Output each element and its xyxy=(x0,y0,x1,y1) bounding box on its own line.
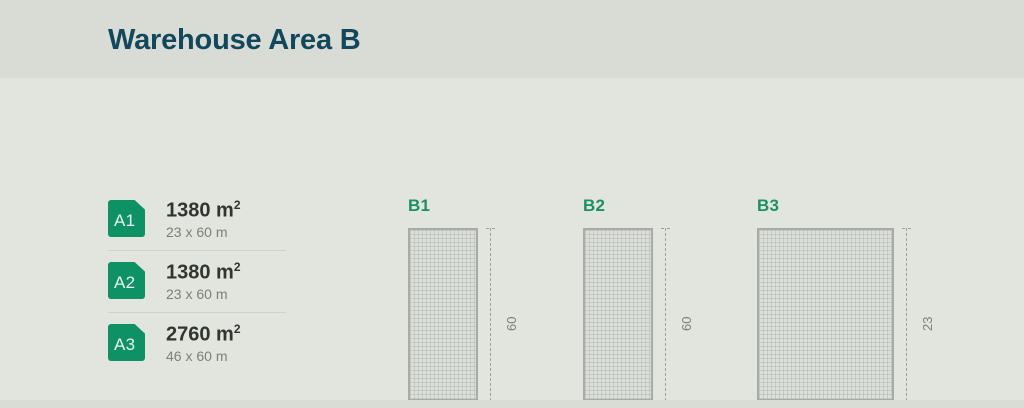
area-legend: A1 1380 m2 23 x 60 m A2 1380 m2 23 x 60 … xyxy=(108,198,288,366)
list-item[interactable]: A1 1380 m2 23 x 60 m xyxy=(108,198,288,242)
depth-dimension-label: 60 xyxy=(504,317,519,331)
area-exponent: 2 xyxy=(234,322,241,336)
depth-dimension-line xyxy=(906,228,907,401)
area-badge-a3: A3 xyxy=(108,324,145,361)
list-item[interactable]: A3 2760 m2 46 x 60 m xyxy=(108,322,288,366)
header-band: Warehouse Area B xyxy=(0,0,1024,78)
unit-label: B3 xyxy=(757,196,779,216)
divider xyxy=(108,250,286,251)
area-exponent: 2 xyxy=(234,198,241,212)
unit-rectangle[interactable] xyxy=(757,228,894,401)
area-dimensions: 23 x 60 m xyxy=(166,224,227,240)
unit-rectangle[interactable] xyxy=(408,228,478,401)
area-value: 1380 m2 xyxy=(166,260,241,285)
content-area: A1 1380 m2 23 x 60 m A2 1380 m2 23 x 60 … xyxy=(0,78,1024,400)
depth-dimension-label: 60 xyxy=(679,317,694,331)
depth-dimension-cap-top xyxy=(902,228,911,229)
area-value: 2760 m2 xyxy=(166,322,241,347)
area-badge-a2: A2 xyxy=(108,262,145,299)
divider xyxy=(108,312,286,313)
area-badge-label: A1 xyxy=(114,211,135,231)
area-number: 1380 m xyxy=(166,200,234,222)
list-item[interactable]: A2 1380 m2 23 x 60 m xyxy=(108,260,288,304)
depth-dimension-cap-top xyxy=(661,228,670,229)
area-dimensions: 23 x 60 m xyxy=(166,286,227,302)
area-badge-a1: A1 xyxy=(108,200,145,237)
area-number: 1380 m xyxy=(166,262,234,284)
page-title: Warehouse Area B xyxy=(108,24,361,57)
depth-dimension-cap-top xyxy=(486,228,495,229)
area-dimensions: 46 x 60 m xyxy=(166,348,227,364)
area-exponent: 2 xyxy=(234,260,241,274)
area-badge-label: A2 xyxy=(114,273,135,293)
bottom-strip xyxy=(0,400,1024,408)
depth-dimension-line xyxy=(665,228,666,401)
depth-dimension-line xyxy=(490,228,491,401)
area-value: 1380 m2 xyxy=(166,198,241,223)
unit-label: B1 xyxy=(408,196,430,216)
area-badge-label: A3 xyxy=(114,335,135,355)
unit-label: B2 xyxy=(583,196,605,216)
unit-rectangle[interactable] xyxy=(583,228,653,401)
depth-dimension-label: 23 xyxy=(920,317,935,331)
area-number: 2760 m xyxy=(166,324,234,346)
